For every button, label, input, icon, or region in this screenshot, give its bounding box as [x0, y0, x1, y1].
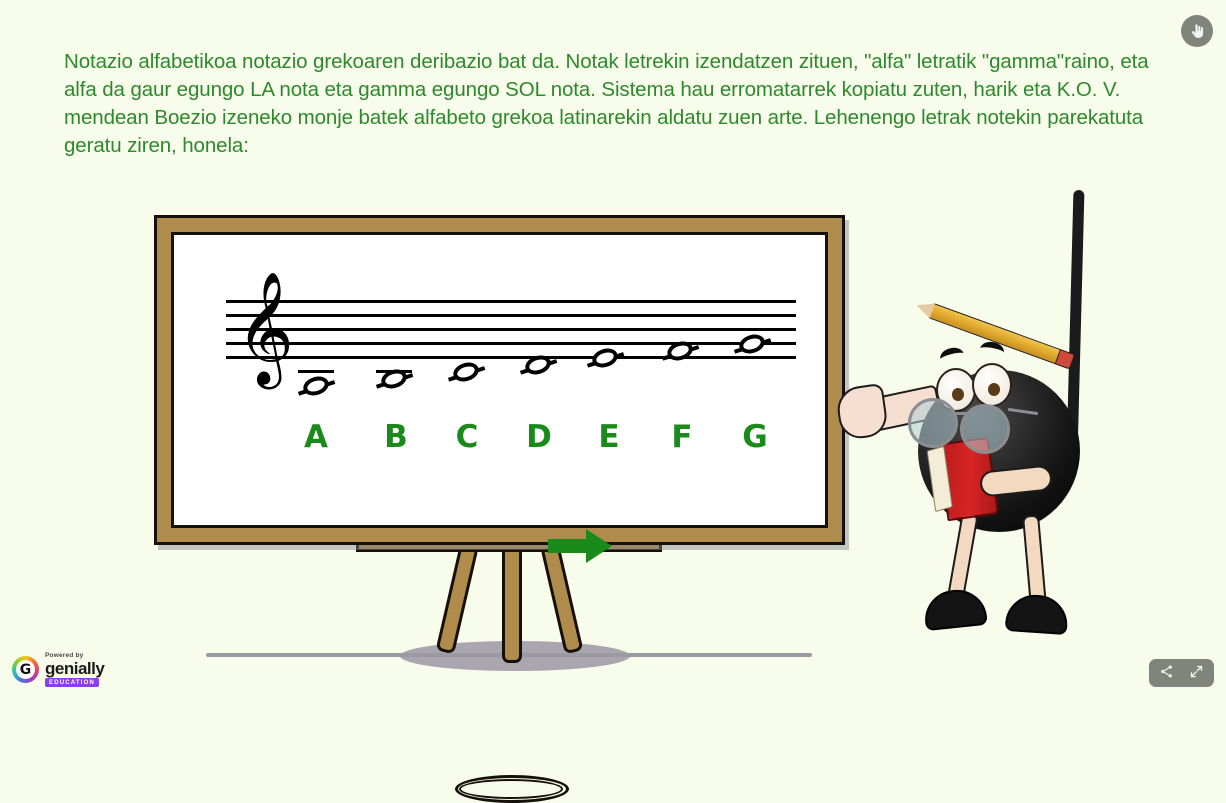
fullscreen-button[interactable]: [1188, 665, 1205, 682]
mascot-glasses-lens-left: [908, 398, 958, 448]
staff-line-5: [226, 300, 796, 303]
mascot-eyebrow-left: [938, 345, 965, 367]
mascot-shoe-left: [922, 587, 988, 631]
easel-leg-center: [502, 545, 522, 663]
note-label-b: B: [381, 419, 411, 455]
next-arrow-icon[interactable]: [546, 527, 614, 565]
intro-paragraph: Notazio alfabetikoa notazio grekoaren de…: [64, 48, 1170, 160]
staff-line-2: [226, 342, 796, 345]
note-label-f: F: [667, 419, 697, 455]
genially-brand-label: genially: [45, 660, 104, 677]
mascot-pointing-hand: [835, 383, 890, 441]
tap-hand-icon: [1189, 23, 1206, 40]
genially-mark-icon: G: [12, 656, 39, 683]
staff-line-4: [226, 314, 796, 317]
easel-board-surface: 𝄞 A B C D E F G: [171, 232, 828, 528]
mascot-glasses-lens-right: [960, 404, 1010, 454]
share-button[interactable]: [1158, 665, 1175, 682]
share-icon: [1159, 664, 1174, 682]
easel-ring-inner: [459, 779, 563, 799]
music-staff: 𝄞 A B C D E F G: [226, 300, 796, 390]
note-label-c: C: [452, 419, 482, 455]
note-head-g: [737, 331, 767, 356]
staff-line-1: [226, 356, 796, 359]
ledger-line-a: [298, 370, 334, 373]
interactive-hint-button[interactable]: [1181, 15, 1213, 47]
staff-line-3: [226, 328, 796, 331]
note-mascot-character: [830, 190, 1100, 670]
note-head-e: [590, 345, 620, 370]
mascot-pupil-left: [952, 388, 964, 401]
genially-education-badge: EDUCATION: [45, 678, 99, 687]
note-label-g: G: [740, 419, 770, 455]
note-head-c: [451, 359, 481, 384]
genially-wordmark: Powered by genially EDUCATION: [45, 653, 104, 688]
illustration-stage: 𝄞 A B C D E F G: [0, 180, 1226, 680]
mascot-leg-right: [1022, 514, 1047, 607]
mascot-pupil-right: [988, 383, 1000, 396]
treble-clef-icon: 𝄞: [236, 279, 294, 377]
note-label-e: E: [594, 419, 624, 455]
mascot-shoe-right: [1005, 593, 1069, 635]
genially-mark-letter: G: [16, 660, 35, 679]
genially-logo[interactable]: G Powered by genially EDUCATION: [12, 653, 104, 688]
note-label-d: D: [524, 419, 554, 455]
fullscreen-icon: [1189, 664, 1204, 682]
easel-board-frame: 𝄞 A B C D E F G: [154, 215, 845, 545]
note-label-a: A: [301, 419, 331, 455]
bottom-toolbar: [1149, 659, 1214, 687]
easel-leg-left: [435, 543, 478, 654]
note-head-a: [301, 373, 331, 398]
